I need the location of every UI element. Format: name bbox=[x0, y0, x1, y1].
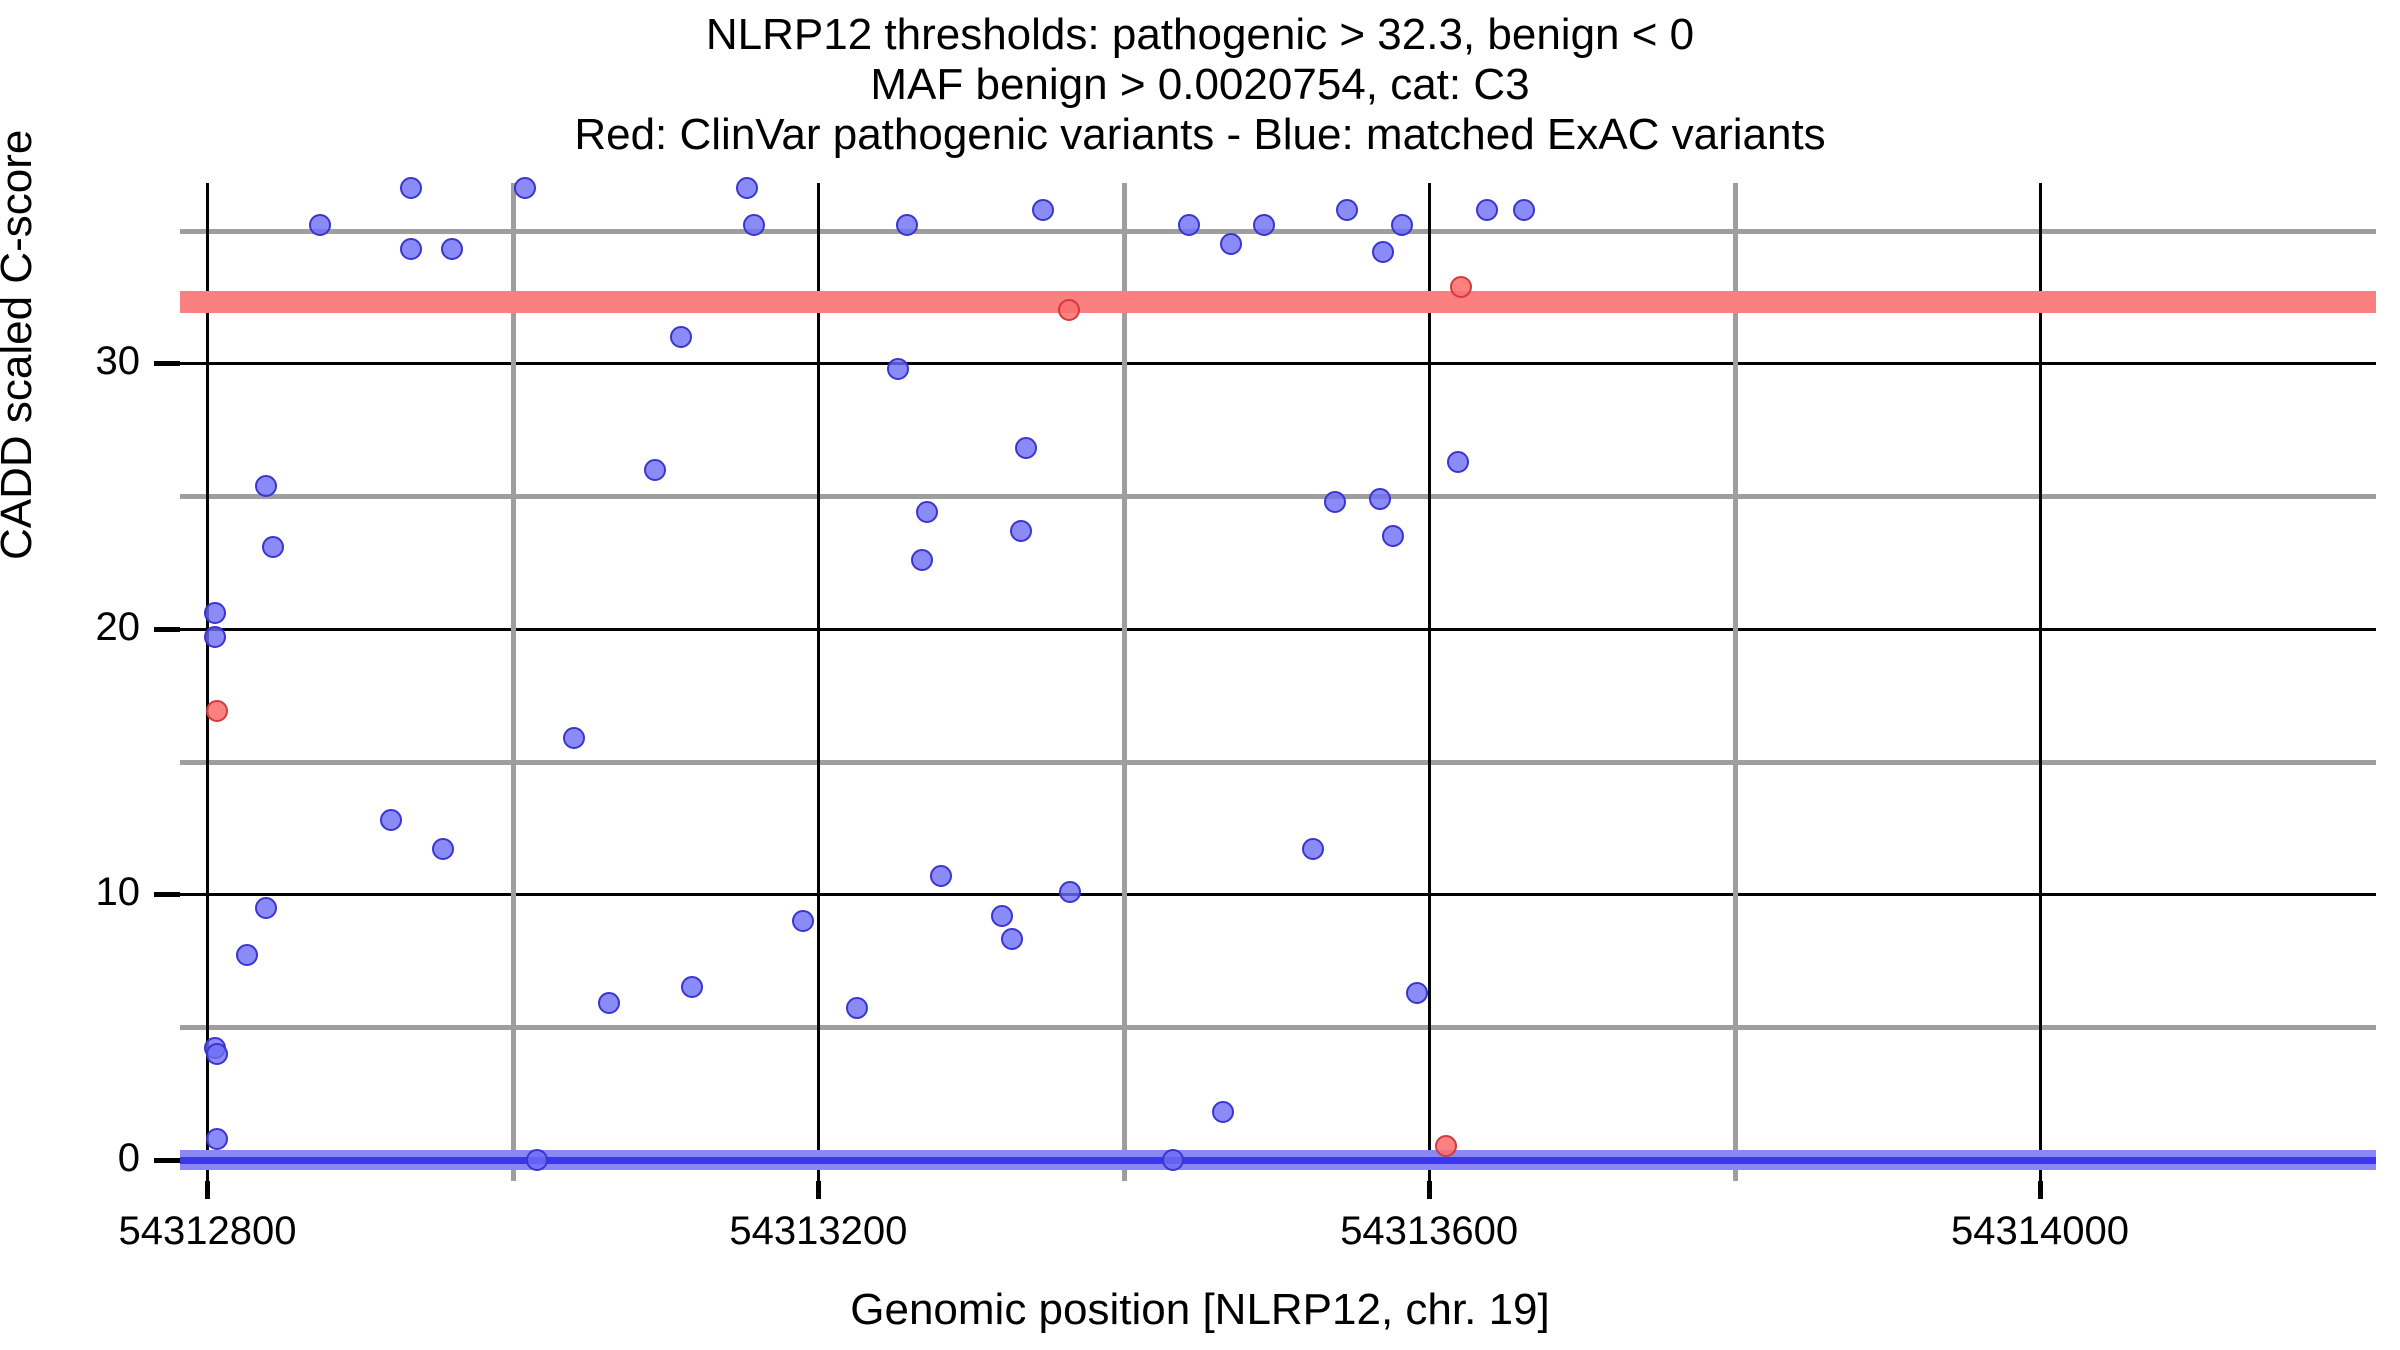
exac-variant-point bbox=[255, 897, 277, 919]
exac-variant-point bbox=[1010, 520, 1032, 542]
exac-variant-point bbox=[1220, 233, 1242, 255]
exac-variant-point bbox=[400, 238, 422, 260]
exac-variant-point bbox=[736, 177, 758, 199]
x-tick-label: 54314000 bbox=[1951, 1211, 2129, 1251]
chart-title: NLRP12 thresholds: pathogenic > 32.3, be… bbox=[0, 10, 2400, 160]
title-line-1: NLRP12 thresholds: pathogenic > 32.3, be… bbox=[0, 10, 2400, 60]
exac-variant-point bbox=[792, 910, 814, 932]
y-tick-label: 20 bbox=[0, 607, 140, 647]
title-line-3: Red: ClinVar pathogenic variants - Blue:… bbox=[0, 110, 2400, 160]
clinvar-pathogenic-point bbox=[1450, 276, 1472, 298]
exac-variant-point bbox=[681, 976, 703, 998]
clinvar-pathogenic-point bbox=[206, 700, 228, 722]
exac-variant-point bbox=[206, 1128, 228, 1150]
exac-variant-point bbox=[991, 905, 1013, 927]
gridline-y-minor bbox=[180, 494, 2376, 499]
exac-variant-point bbox=[1369, 488, 1391, 510]
gridline-x-minor bbox=[1122, 183, 1127, 1181]
gridline-y-major bbox=[180, 893, 2376, 896]
gridline-y-minor bbox=[180, 760, 2376, 765]
chart-page: NLRP12 thresholds: pathogenic > 32.3, be… bbox=[0, 0, 2400, 1350]
exac-variant-point bbox=[526, 1149, 548, 1171]
exac-variant-point bbox=[1336, 199, 1358, 221]
exac-variant-point bbox=[255, 475, 277, 497]
exac-variant-point bbox=[380, 809, 402, 831]
exac-variant-point bbox=[400, 177, 422, 199]
x-tick-mark bbox=[2038, 1181, 2043, 1199]
exac-variant-point bbox=[916, 501, 938, 523]
exac-variant-point bbox=[1382, 525, 1404, 547]
gridline-x-major bbox=[2039, 183, 2042, 1181]
exac-variant-point bbox=[644, 459, 666, 481]
x-tick-label: 54313600 bbox=[1340, 1211, 1518, 1251]
exac-variant-point bbox=[846, 997, 868, 1019]
exac-variant-point bbox=[441, 238, 463, 260]
gridline-y-major bbox=[180, 628, 2376, 631]
exac-variant-point bbox=[204, 626, 226, 648]
gridline-x-minor bbox=[1733, 183, 1738, 1181]
gridline-y-major bbox=[180, 362, 2376, 365]
plot-area bbox=[180, 183, 2376, 1181]
exac-variant-point bbox=[262, 536, 284, 558]
gridline-x-major bbox=[817, 183, 820, 1181]
exac-variant-point bbox=[1324, 491, 1346, 513]
exac-variant-point bbox=[1513, 199, 1535, 221]
exac-variant-point bbox=[1406, 982, 1428, 1004]
exac-variant-point bbox=[911, 549, 933, 571]
y-axis-label: CADD scaled C-score bbox=[0, 130, 42, 560]
gridline-y-minor bbox=[180, 229, 2376, 234]
exac-variant-point bbox=[1447, 451, 1469, 473]
exac-variant-point bbox=[1059, 881, 1081, 903]
x-tick-label: 54313200 bbox=[729, 1211, 907, 1251]
exac-variant-point bbox=[1212, 1101, 1234, 1123]
exac-variant-point bbox=[206, 1043, 228, 1065]
y-tick-mark bbox=[154, 361, 180, 366]
exac-variant-point bbox=[1032, 199, 1054, 221]
exac-variant-point bbox=[563, 727, 585, 749]
exac-variant-point bbox=[670, 326, 692, 348]
y-tick-mark bbox=[154, 627, 180, 632]
y-tick-mark bbox=[154, 1158, 180, 1163]
x-tick-label: 54312800 bbox=[119, 1211, 297, 1251]
exac-variant-point bbox=[1476, 199, 1498, 221]
title-line-2: MAF benign > 0.0020754, cat: C3 bbox=[0, 60, 2400, 110]
pathogenic-threshold-line bbox=[180, 291, 2376, 313]
gridline-x-minor bbox=[511, 183, 516, 1181]
x-tick-mark bbox=[1427, 1181, 1432, 1199]
gridline-x-major bbox=[206, 183, 209, 1181]
exac-variant-point bbox=[204, 602, 226, 624]
y-tick-label: 0 bbox=[0, 1138, 140, 1178]
x-tick-mark bbox=[816, 1181, 821, 1199]
exac-variant-point bbox=[432, 838, 454, 860]
gridline-x-major bbox=[1428, 183, 1431, 1181]
exac-variant-point bbox=[1162, 1149, 1184, 1171]
x-tick-mark bbox=[205, 1181, 210, 1199]
benign-threshold-core bbox=[180, 1157, 2376, 1164]
y-tick-mark bbox=[154, 892, 180, 897]
exac-variant-point bbox=[930, 865, 952, 887]
exac-variant-point bbox=[887, 358, 909, 380]
exac-variant-point bbox=[1391, 214, 1413, 236]
plot-background bbox=[180, 183, 2376, 1181]
gridline-y-minor bbox=[180, 1025, 2376, 1030]
x-axis-label: Genomic position [NLRP12, chr. 19] bbox=[0, 1285, 2400, 1335]
y-tick-label: 10 bbox=[0, 872, 140, 912]
